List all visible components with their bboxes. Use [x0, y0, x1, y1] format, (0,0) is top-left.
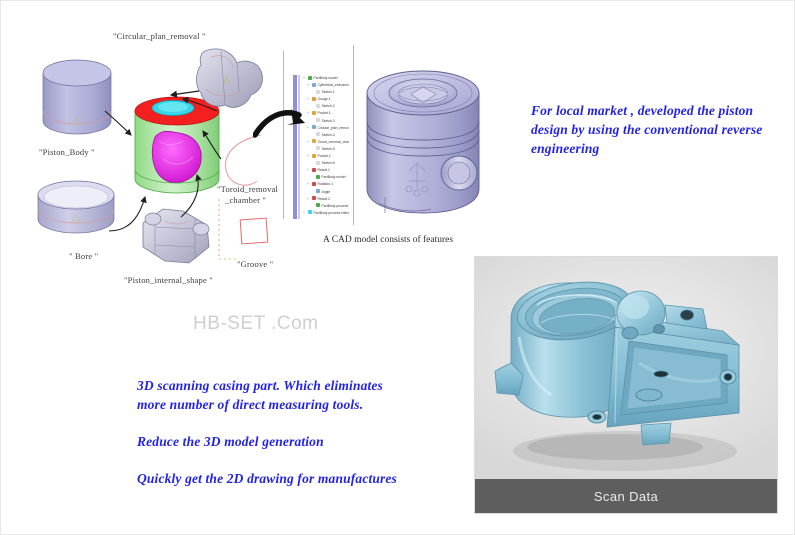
tree-row[interactable]: Angle	[301, 189, 349, 196]
callout-bottom-line-3: Reduce the 3D model generation	[137, 432, 457, 451]
tree-row[interactable]: +Cylindrical_extrusion	[301, 82, 349, 89]
cad-feature-tree[interactable]: +PartBody model+Cylindrical_extrusionSke…	[293, 75, 349, 219]
scan-data-viewport	[475, 257, 777, 479]
leader-arrows	[21, 19, 291, 299]
callout-spacer-1	[137, 414, 457, 432]
tree-node-icon	[312, 154, 316, 158]
tree-node-label: Toroid_removal_chamber	[318, 139, 350, 146]
tree-node-label: Rotation.1	[318, 181, 333, 188]
cad-model-caption: A CAD model consists of features	[323, 235, 453, 245]
tree-node-label: Result.1	[318, 167, 330, 174]
tree-node-label: Gouge.1	[318, 96, 331, 103]
callout-right-line-1: For local market , developed the piston	[531, 101, 793, 120]
feature-decomposition-diagram: "Circular_plan_removal " "Piston_Body "	[21, 19, 291, 299]
tree-node-icon	[312, 97, 316, 101]
tree-node-label: Angle	[322, 189, 331, 196]
tree-row[interactable]: +PartBody process internal tool	[301, 210, 349, 217]
tree-node-label: Sketch.3	[322, 118, 335, 125]
slide-canvas: "Circular_plan_removal " "Piston_Body "	[0, 0, 795, 535]
tree-row[interactable]: PartBody process internal tool	[301, 203, 349, 210]
tree-node-icon	[312, 139, 316, 143]
tree-node-icon	[312, 168, 316, 172]
tree-row[interactable]: +Result.1	[301, 167, 349, 174]
tree-node-icon	[316, 146, 320, 150]
tree-node-icon	[316, 189, 320, 193]
tree-node-label: PartBody process internal tool	[322, 203, 350, 210]
tree-node-icon	[316, 161, 320, 165]
tree-row[interactable]: Sketch.6	[301, 160, 349, 167]
callout-right-block: For local market , developed the piston …	[531, 101, 793, 158]
tree-node-label: PartBody process internal tool	[314, 210, 350, 217]
tree-node-label: Sketch.5	[322, 146, 335, 153]
tree-node-icon	[308, 76, 312, 80]
callout-spacer-2	[137, 451, 457, 469]
scan-data-caption: Scan Data	[475, 479, 777, 513]
tree-node-label: Pocket.1	[318, 110, 331, 117]
tree-node-icon	[312, 111, 316, 115]
callout-bottom-line-4: Quickly get the 2D drawing for manufactu…	[137, 469, 457, 488]
callout-right-line-2: design by using the conventional reverse	[531, 120, 793, 139]
tree-node-icon	[312, 125, 316, 129]
tree-row[interactable]: Sketch.5	[301, 146, 349, 153]
tree-scrollbar[interactable]	[293, 75, 297, 219]
tree-node-icon	[316, 104, 320, 108]
tree-node-icon	[316, 203, 320, 207]
tree-node-label: Sketch.1	[322, 89, 335, 96]
tree-node-icon	[312, 182, 316, 186]
tree-scrollbar-track	[298, 75, 300, 219]
tree-node-icon	[308, 210, 312, 214]
tree-rows: +PartBody model+Cylindrical_extrusionSke…	[301, 75, 349, 217]
scan-data-caption-label: Scan Data	[594, 489, 658, 504]
callout-bottom-block: 3D scanning casing part. Which eliminate…	[137, 376, 457, 488]
diagram-separator-right	[353, 45, 354, 225]
tree-row[interactable]: +Result.2	[301, 196, 349, 203]
process-arrow-icon	[253, 101, 311, 145]
cad-piston-render	[359, 63, 489, 223]
scan-data-card[interactable]: Scan Data	[475, 257, 777, 513]
tree-row[interactable]: Sketch.1	[301, 89, 349, 96]
tree-node-icon	[316, 175, 320, 179]
tree-node-icon	[316, 132, 320, 136]
tree-row[interactable]: +Rotation.1	[301, 181, 349, 188]
callout-right-line-3: engineering	[531, 139, 793, 158]
tree-node-label: Sketch.2	[322, 103, 335, 110]
tree-node-label: Cylindrical_extrusion	[318, 82, 349, 89]
callout-bottom-line-2: more number of direct measuring tools.	[137, 395, 457, 414]
callout-bottom-line-1: 3D scanning casing part. Which eliminate…	[137, 376, 457, 395]
tree-row[interactable]: PartBody model	[301, 174, 349, 181]
tree-row[interactable]: +Pocket.2	[301, 153, 349, 160]
scanned-casing-part	[489, 267, 769, 457]
tree-node-label: Circular_plan_removal	[318, 125, 350, 132]
tree-node-label: PartBody model	[322, 174, 346, 181]
tree-node-label: Sketch.6	[322, 160, 335, 167]
tree-node-label: Pocket.2	[318, 153, 331, 160]
tree-node-icon	[316, 90, 320, 94]
tree-row[interactable]: +PartBody model	[301, 75, 349, 82]
tree-node-icon	[316, 118, 320, 122]
tree-node-label: PartBody model	[314, 75, 338, 82]
tree-node-label: Result.2	[318, 196, 330, 203]
tree-node-label: Sketch.4	[322, 132, 335, 139]
tree-node-icon	[312, 83, 316, 87]
site-watermark: HB-SET .Com	[193, 313, 319, 335]
tree-node-icon	[312, 196, 316, 200]
